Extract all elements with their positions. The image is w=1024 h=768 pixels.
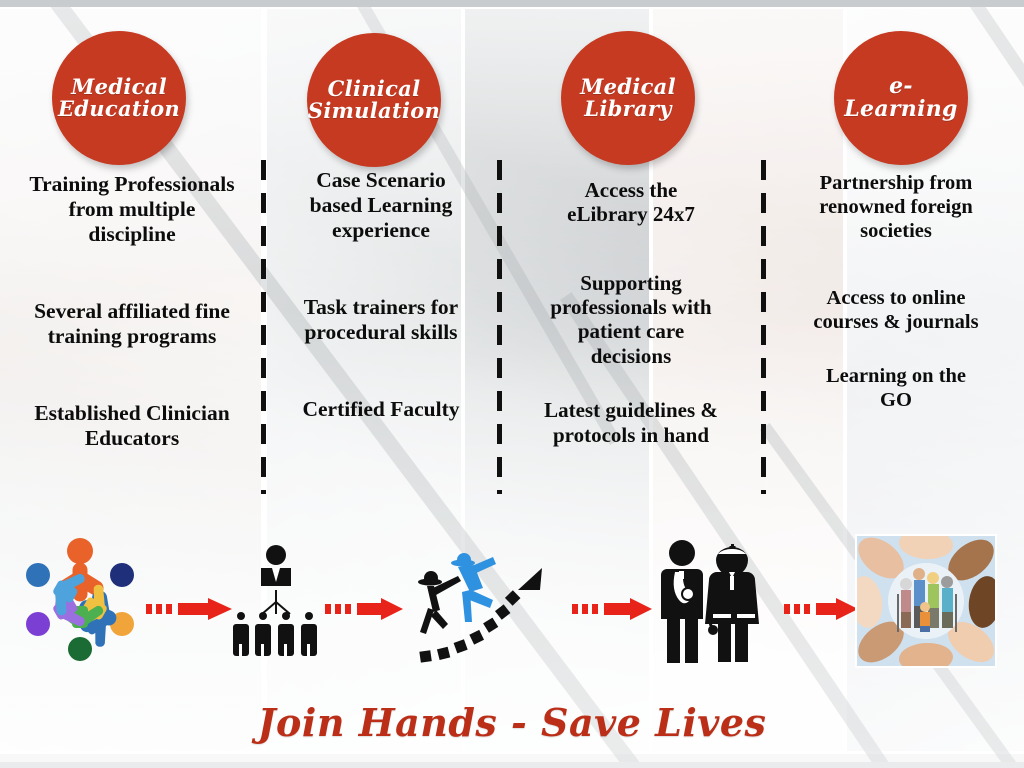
bullet-line: experience: [272, 218, 490, 243]
bullet-line: Educators: [6, 426, 258, 451]
circle-label-line1: Clinical: [302, 78, 446, 100]
column-divider-dashed: [497, 160, 502, 494]
bullet-line: Latest guidelines &: [508, 398, 754, 422]
hands-around-family-icon: [855, 534, 997, 668]
circle-label-line1: Medical: [574, 76, 682, 98]
bullet-line: training programs: [6, 324, 258, 349]
bullet-line: Learning on the: [772, 365, 1020, 389]
column-text-elearning: Partnership from renowned foreign societ…: [772, 172, 1020, 412]
doctor-and-nurse-icon: [655, 538, 777, 664]
column-divider-dashed: [761, 160, 766, 494]
bullet-line: Partnership from: [772, 172, 1020, 196]
circle-label-line1: Medical: [52, 76, 186, 98]
bullet-line: Task trainers for: [272, 295, 490, 320]
bullet-line: based Learning: [272, 193, 490, 218]
org-chart-people-icon: [228, 544, 324, 656]
circle-label-line2: Simulation: [302, 100, 446, 122]
bullet-line: Case Scenario: [272, 168, 490, 193]
process-flow-strip: [0, 520, 1024, 680]
circle-label-line1: e-Learning: [834, 75, 968, 121]
bullet-line: Established Clinician: [6, 401, 258, 426]
red-dashed-arrow: [784, 598, 858, 620]
bullet-item: Established Clinician Educators: [6, 401, 258, 451]
circle-label-line2: Education: [52, 98, 186, 120]
bullet-item: Case Scenario based Learning experience: [272, 168, 490, 243]
bullet-item: Access to online courses & journals: [772, 287, 1020, 335]
bullet-item: Supporting professionals with patient ca…: [508, 271, 754, 368]
bullet-line: decisions: [508, 344, 754, 368]
poster-tagline: Join Hands - Save Lives: [0, 700, 1024, 745]
red-dashed-arrow: [325, 598, 403, 620]
bullet-line: Several affiliated fine: [6, 299, 258, 324]
red-dashed-arrow: [572, 598, 652, 620]
bullet-line: Certified Faculty: [272, 397, 490, 422]
teamwork-circle-icon: [16, 536, 144, 664]
bullet-line: societies: [772, 220, 1020, 244]
bullet-item: Latest guidelines & protocols in hand: [508, 398, 754, 447]
mentor-helping-climb-icon: [400, 538, 552, 664]
bullet-line: courses & journals: [772, 311, 1020, 335]
bullet-item: Learning on the GO: [772, 365, 1020, 413]
bullet-line: Supporting: [508, 271, 754, 295]
bullet-line: procedural skills: [272, 320, 490, 345]
bullet-item: Access the eLibrary 24x7: [508, 178, 754, 227]
circle-badge-clinical-simulation: Clinical Simulation: [307, 33, 441, 167]
bg-bottom-bar: [0, 762, 1024, 768]
circle-badge-medical-education: Medical Education: [52, 31, 186, 165]
bullet-line: eLibrary 24x7: [508, 202, 754, 226]
bullet-line: Training Professionals: [6, 172, 258, 197]
column-text-clinical-simulation: Case Scenario based Learning experience …: [272, 168, 490, 422]
bullet-item: Partnership from renowned foreign societ…: [772, 172, 1020, 243]
circle-label-line2: Library: [574, 98, 682, 120]
bullet-line: professionals with: [508, 295, 754, 319]
bullet-line: Access to online: [772, 287, 1020, 311]
bullet-line: renowned foreign: [772, 196, 1020, 220]
bullet-line: Access the: [508, 178, 754, 202]
bullet-line: from multiple: [6, 197, 258, 222]
infographic-poster: Medical Education Clinical Simulation Me…: [0, 0, 1024, 768]
red-dashed-arrow: [146, 598, 232, 620]
bullet-item: Certified Faculty: [272, 397, 490, 422]
bullet-item: Task trainers for procedural skills: [272, 295, 490, 345]
circle-badge-elearning: e-Learning: [834, 31, 968, 165]
circle-badge-medical-library: Medical Library: [561, 31, 695, 165]
bullet-line: protocols in hand: [508, 423, 754, 447]
bg-top-bar: [0, 0, 1024, 7]
bullet-line: discipline: [6, 222, 258, 247]
column-divider-dashed: [261, 160, 266, 494]
column-text-medical-education: Training Professionals from multiple dis…: [6, 172, 258, 451]
bullet-line: patient care: [508, 319, 754, 343]
bullet-item: Several affiliated fine training program…: [6, 299, 258, 349]
bullet-item: Training Professionals from multiple dis…: [6, 172, 258, 247]
column-text-medical-library: Access the eLibrary 24x7 Supporting prof…: [508, 178, 754, 447]
bullet-line: GO: [772, 389, 1020, 413]
